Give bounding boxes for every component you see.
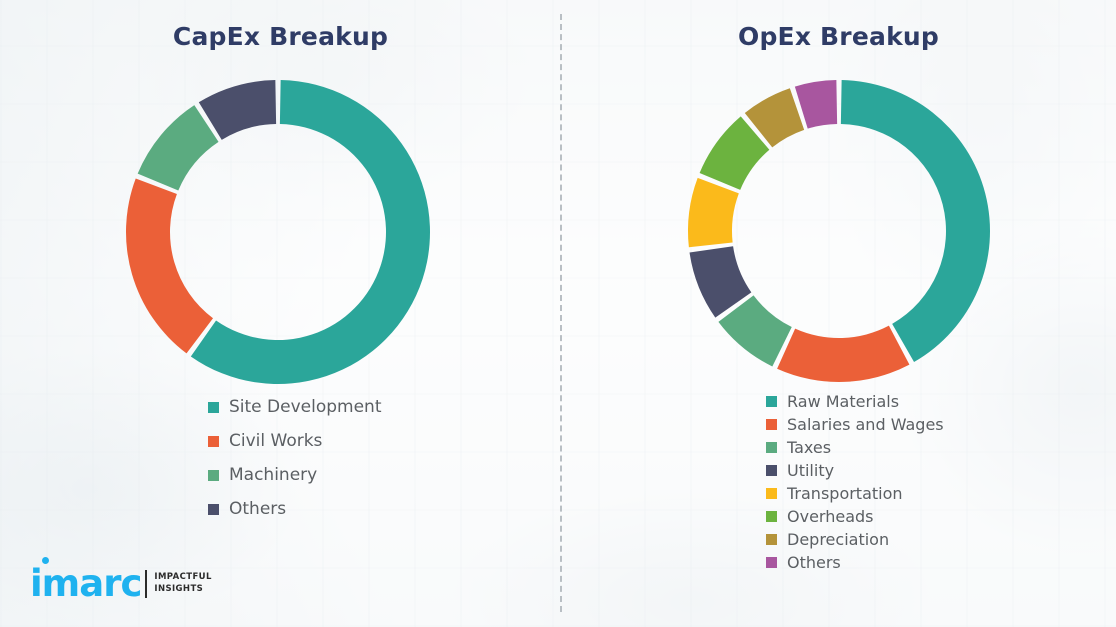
opex-legend-item[interactable]: Overheads xyxy=(766,505,944,528)
logo-wordmark: imarc xyxy=(30,565,141,602)
opex-legend-item[interactable]: Utility xyxy=(766,459,944,482)
capex-legend-label: Others xyxy=(229,499,286,519)
opex-legend: Raw MaterialsSalaries and WagesTaxesUtil… xyxy=(766,390,944,574)
opex-legend-swatch-icon xyxy=(766,488,777,499)
slide-canvas: CapEx Breakup Site DevelopmentCivil Work… xyxy=(0,0,1116,627)
capex-legend-swatch-icon xyxy=(208,402,219,413)
opex-legend-swatch-icon xyxy=(766,465,777,476)
logo-tagline: IMPACTFUL INSIGHTS xyxy=(154,572,211,595)
opex-legend-swatch-icon xyxy=(766,442,777,453)
capex-legend-item[interactable]: Civil Works xyxy=(208,424,382,458)
opex-legend-item[interactable]: Raw Materials xyxy=(766,390,944,413)
opex-legend-label: Overheads xyxy=(787,507,873,526)
capex-legend-item[interactable]: Machinery xyxy=(208,458,382,492)
imarc-logo: imarc IMPACTFUL INSIGHTS xyxy=(30,565,212,602)
opex-legend-label: Others xyxy=(787,553,841,572)
opex-legend-item[interactable]: Transportation xyxy=(766,482,944,505)
capex-legend-item[interactable]: Others xyxy=(208,492,382,526)
opex-legend-item[interactable]: Depreciation xyxy=(766,528,944,551)
capex-donut-svg xyxy=(126,80,430,384)
logo-tagline-line2: INSIGHTS xyxy=(154,584,211,595)
capex-slice-civil-works[interactable] xyxy=(126,179,213,354)
opex-slice-salaries-and-wages[interactable] xyxy=(777,326,909,382)
opex-legend-label: Transportation xyxy=(787,484,903,503)
opex-chart-title: OpEx Breakup xyxy=(561,22,1116,51)
opex-legend-swatch-icon xyxy=(766,557,777,568)
logo-dot-icon xyxy=(42,557,49,564)
capex-slice-machinery[interactable] xyxy=(138,105,219,190)
opex-legend-label: Depreciation xyxy=(787,530,889,549)
opex-legend-item[interactable]: Taxes xyxy=(766,436,944,459)
capex-legend-swatch-icon xyxy=(208,504,219,515)
capex-legend-label: Machinery xyxy=(229,465,317,485)
capex-chart-title: CapEx Breakup xyxy=(0,22,561,51)
opex-donut-svg xyxy=(688,80,990,382)
capex-panel: CapEx Breakup Site DevelopmentCivil Work… xyxy=(0,0,561,627)
opex-panel: OpEx Breakup Raw MaterialsSalaries and W… xyxy=(561,0,1116,627)
opex-legend-swatch-icon xyxy=(766,511,777,522)
capex-legend: Site DevelopmentCivil WorksMachineryOthe… xyxy=(208,390,382,526)
opex-legend-swatch-icon xyxy=(766,419,777,430)
opex-legend-label: Taxes xyxy=(787,438,831,457)
logo-divider-bar xyxy=(145,570,147,598)
opex-legend-item[interactable]: Salaries and Wages xyxy=(766,413,944,436)
opex-legend-swatch-icon xyxy=(766,396,777,407)
opex-legend-label: Salaries and Wages xyxy=(787,415,944,434)
capex-legend-label: Civil Works xyxy=(229,431,322,451)
opex-legend-item[interactable]: Others xyxy=(766,551,944,574)
opex-slice-raw-materials[interactable] xyxy=(841,80,990,362)
opex-legend-label: Raw Materials xyxy=(787,392,899,411)
capex-legend-item[interactable]: Site Development xyxy=(208,390,382,424)
opex-donut-chart xyxy=(688,80,990,382)
opex-legend-label: Utility xyxy=(787,461,834,480)
opex-legend-swatch-icon xyxy=(766,534,777,545)
opex-slice-transportation[interactable] xyxy=(688,178,739,247)
logo-tagline-line1: IMPACTFUL xyxy=(154,572,211,583)
capex-legend-label: Site Development xyxy=(229,397,382,417)
capex-donut-chart xyxy=(126,80,430,384)
capex-legend-swatch-icon xyxy=(208,470,219,481)
capex-legend-swatch-icon xyxy=(208,436,219,447)
